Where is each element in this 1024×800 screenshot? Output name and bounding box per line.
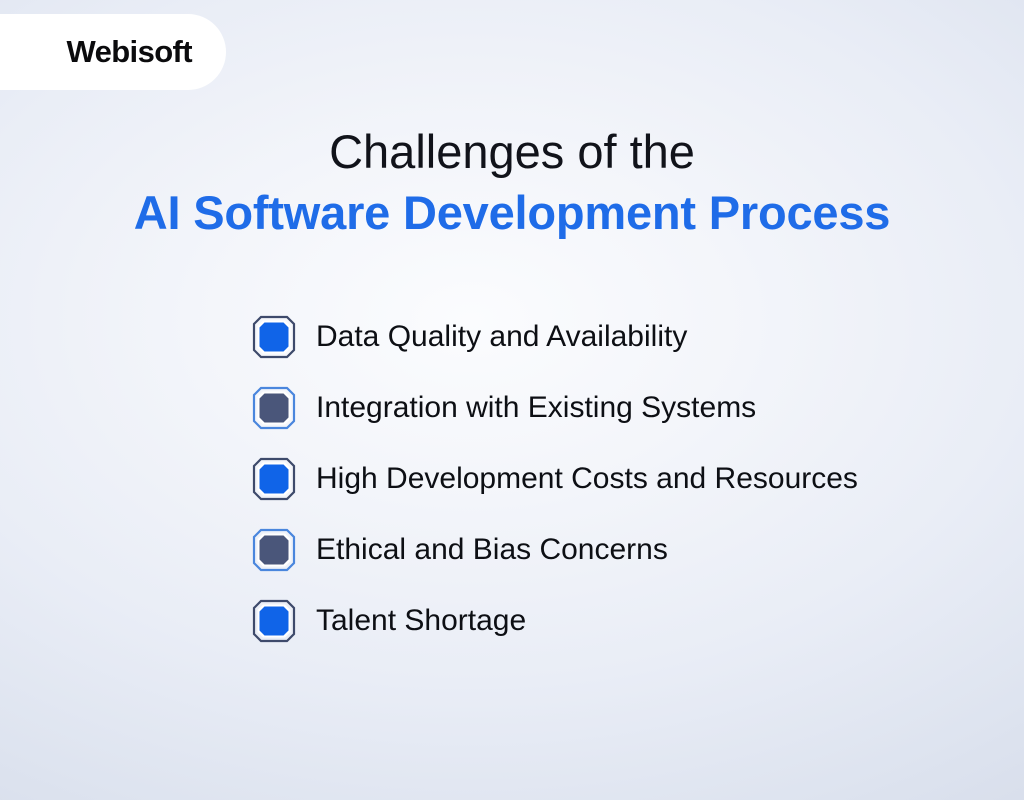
list-item-label: Data Quality and Availability xyxy=(316,320,687,354)
list-item-label: Talent Shortage xyxy=(316,604,526,638)
chip-square-icon xyxy=(252,457,296,501)
list-item[interactable]: Talent Shortage xyxy=(252,596,1012,646)
title-line-primary: Challenges of the xyxy=(0,122,1024,182)
list-item[interactable]: Integration with Existing Systems xyxy=(252,383,1012,433)
icon-core-fill xyxy=(260,536,289,565)
list-item-label: High Development Costs and Resources xyxy=(316,462,858,496)
slide-canvas: Webisoft Challenges of the AI Software D… xyxy=(0,0,1024,800)
list-item[interactable]: Ethical and Bias Concerns xyxy=(252,525,1012,575)
page-title: Challenges of the AI Software Developmen… xyxy=(0,122,1024,244)
challenge-list: Data Quality and AvailabilityIntegration… xyxy=(252,312,1012,667)
chip-square-icon xyxy=(252,386,296,430)
icon-core-fill xyxy=(260,465,289,494)
icon-core-fill xyxy=(260,607,289,636)
chip-square-icon xyxy=(252,528,296,572)
list-item[interactable]: High Development Costs and Resources xyxy=(252,454,1012,504)
title-line-highlight: AI Software Development Process xyxy=(0,182,1024,244)
icon-core-fill xyxy=(260,323,289,352)
brand-logo[interactable]: Webisoft xyxy=(0,14,226,90)
icon-core-fill xyxy=(260,394,289,423)
list-item-label: Integration with Existing Systems xyxy=(316,391,756,425)
chip-square-icon xyxy=(252,599,296,643)
list-item-label: Ethical and Bias Concerns xyxy=(316,533,668,567)
list-item[interactable]: Data Quality and Availability xyxy=(252,312,1012,362)
chip-square-icon xyxy=(252,315,296,359)
brand-logo-text: Webisoft xyxy=(66,34,192,70)
